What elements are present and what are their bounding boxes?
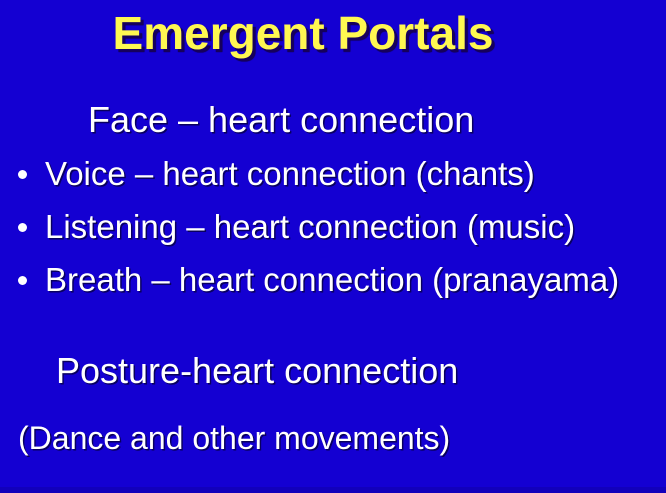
list-item-label: Listening – heart connection (music) bbox=[45, 205, 575, 249]
bullet-dot-icon bbox=[18, 276, 27, 285]
headline-face-heart-connection: Face – heart connection bbox=[88, 99, 474, 141]
list-item: Voice – heart connection (chants) bbox=[0, 152, 666, 205]
list-item-label: Breath – heart connection (pranayama) bbox=[45, 258, 619, 302]
headline-posture-heart-connection: Posture-heart connection bbox=[56, 350, 458, 392]
slide-title: Emergent Portals bbox=[0, 6, 666, 60]
bullet-list: Voice – heart connection (chants) Listen… bbox=[0, 152, 666, 311]
list-item-label: Voice – heart connection (chants) bbox=[45, 152, 535, 196]
bullet-dot-icon bbox=[18, 170, 27, 179]
presentation-slide: Emergent Portals Face – heart connection… bbox=[0, 0, 666, 493]
footnote-dance-and-other-movements: (Dance and other movements) bbox=[18, 420, 450, 457]
list-item: Listening – heart connection (music) bbox=[0, 205, 666, 258]
list-item: Breath – heart connection (pranayama) bbox=[0, 258, 666, 311]
bullet-dot-icon bbox=[18, 223, 27, 232]
